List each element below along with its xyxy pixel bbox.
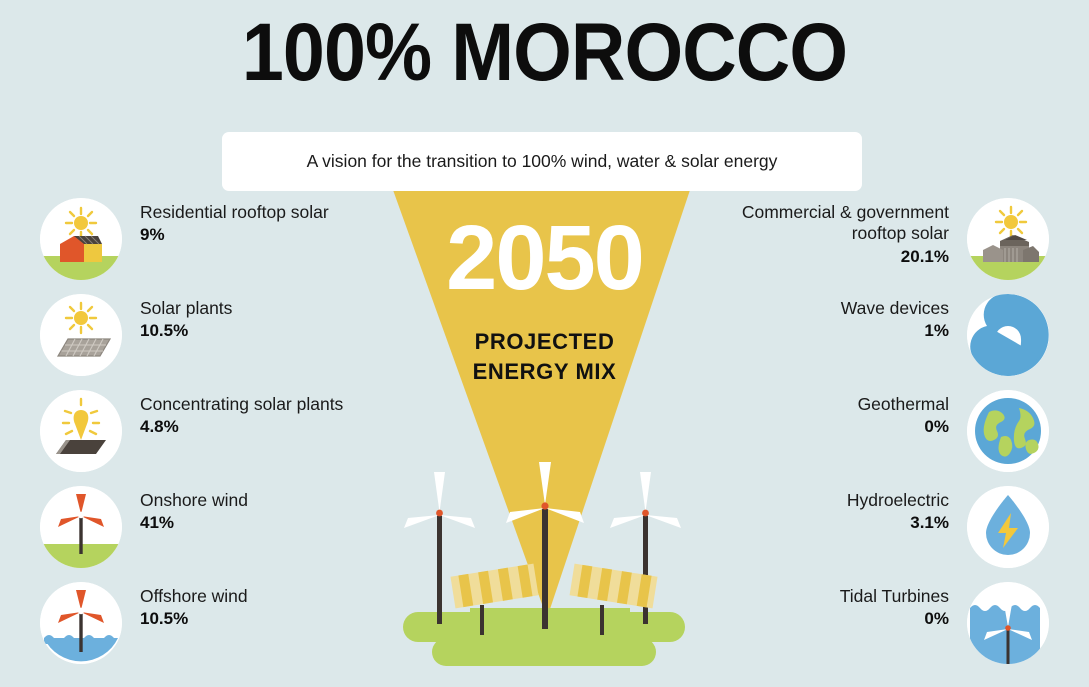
house-solar-icon <box>40 198 122 280</box>
stat-value: 1% <box>709 321 949 341</box>
wave-icon <box>967 294 1049 376</box>
stat-text: Commercial & government rooftop solar 20… <box>709 198 967 267</box>
scene-solar-array-right <box>570 564 658 635</box>
commercial-building-solar-icon <box>967 198 1049 280</box>
stat-label: Hydroelectric <box>709 490 949 511</box>
stat-value: 41% <box>140 513 380 533</box>
stat-label: Offshore wind <box>140 586 380 607</box>
stat-row-onshore-wind[interactable]: Onshore wind 41% <box>40 486 380 582</box>
subtitle-text: A vision for the transition to 100% wind… <box>307 151 778 172</box>
stat-row-commercial-rooftop-solar[interactable]: Commercial & government rooftop solar 20… <box>709 198 1049 294</box>
scene-turbine-center <box>506 462 584 629</box>
page-title: 100% MOROCCO <box>44 10 1046 96</box>
stat-row-hydroelectric[interactable]: Hydroelectric 3.1% <box>709 486 1049 582</box>
stat-text: Wave devices 1% <box>709 294 967 341</box>
stat-row-wave-devices[interactable]: Wave devices 1% <box>709 294 1049 390</box>
stat-value: 4.8% <box>140 417 380 437</box>
stat-text: Geothermal 0% <box>709 390 967 437</box>
stat-text: Hydroelectric 3.1% <box>709 486 967 533</box>
right-stat-column: Commercial & government rooftop solar 20… <box>709 198 1049 678</box>
stat-value: 20.1% <box>709 247 949 267</box>
solar-panel-icon <box>40 294 122 376</box>
tidal-turbine-icon <box>967 582 1049 664</box>
stat-label: Commercial & government rooftop solar <box>709 202 949 245</box>
offshore-wind-turbine-icon <box>40 582 122 664</box>
left-stat-column: Residential rooftop solar 9% <box>40 198 380 678</box>
stat-row-tidal-turbines[interactable]: Tidal Turbines 0% <box>709 582 1049 678</box>
stat-row-concentrating-solar-plants[interactable]: Concentrating solar plants 4.8% <box>40 390 380 486</box>
stat-text: Solar plants 10.5% <box>122 294 380 341</box>
scene-turbine-right <box>610 472 681 624</box>
stat-text: Onshore wind 41% <box>122 486 380 533</box>
stat-row-geothermal[interactable]: Geothermal 0% <box>709 390 1049 486</box>
stat-text: Tidal Turbines 0% <box>709 582 967 629</box>
globe-icon <box>967 390 1049 472</box>
stat-text: Offshore wind 10.5% <box>122 582 380 629</box>
stat-label: Concentrating solar plants <box>140 394 380 415</box>
stat-row-offshore-wind[interactable]: Offshore wind 10.5% <box>40 582 380 678</box>
concentrating-solar-icon <box>40 390 122 472</box>
subtitle-banner: A vision for the transition to 100% wind… <box>222 132 862 191</box>
stat-row-residential-rooftop-solar[interactable]: Residential rooftop solar 9% <box>40 198 380 294</box>
stat-text: Concentrating solar plants 4.8% <box>122 390 380 437</box>
stat-value: 3.1% <box>709 513 949 533</box>
stat-row-solar-plants[interactable]: Solar plants 10.5% <box>40 294 380 390</box>
scene-turbine-left <box>404 472 475 624</box>
stat-label: Tidal Turbines <box>709 586 949 607</box>
stat-value: 0% <box>709 417 949 437</box>
stat-value: 9% <box>140 225 380 245</box>
scene-solar-array-left <box>450 564 538 635</box>
stat-label: Residential rooftop solar <box>140 202 380 223</box>
stat-value: 10.5% <box>140 321 380 341</box>
stat-value: 0% <box>709 609 949 629</box>
onshore-wind-turbine-icon <box>40 486 122 568</box>
water-drop-bolt-icon <box>967 486 1049 568</box>
stat-label: Wave devices <box>709 298 949 319</box>
stat-text: Residential rooftop solar 9% <box>122 198 380 245</box>
stat-value: 10.5% <box>140 609 380 629</box>
stat-label: Onshore wind <box>140 490 380 511</box>
grass-ground <box>403 608 685 666</box>
stat-label: Solar plants <box>140 298 380 319</box>
stat-label: Geothermal <box>709 394 949 415</box>
